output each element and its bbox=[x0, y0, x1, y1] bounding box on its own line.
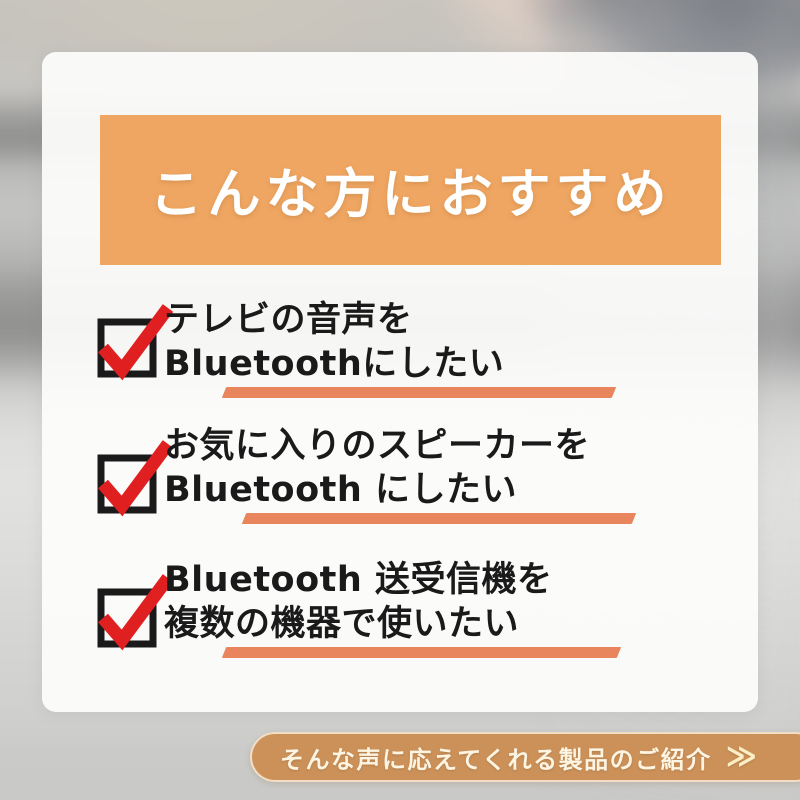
checked-box-icon bbox=[96, 308, 158, 384]
list-item-line-2: Bluetoothにしたい bbox=[164, 344, 504, 384]
promo-slide: こんな方におすすめ テレビの音声を Bluetoothにしたい bbox=[0, 0, 800, 800]
underline-stroke bbox=[222, 387, 616, 398]
cta-label: そんな声に応えてくれる製品のご紹介 bbox=[280, 740, 712, 775]
header-banner: こんな方におすすめ bbox=[100, 115, 721, 265]
list-item-line-1: Bluetooth 送受信機を bbox=[164, 560, 552, 600]
underline-stroke bbox=[222, 647, 621, 658]
list-item: お気に入りのスピーカーを Bluetooth にしたい bbox=[96, 422, 736, 520]
checklist: テレビの音声を Bluetoothにしたい お気に入りのスピーカーを Bluet… bbox=[96, 296, 736, 654]
double-chevron-right-icon: ≫ bbox=[726, 742, 757, 772]
list-item: Bluetooth 送受信機を 複数の機器で使いたい bbox=[96, 556, 736, 654]
list-item-line-2: Bluetooth にしたい bbox=[164, 470, 517, 510]
cta-banner[interactable]: そんな声に応えてくれる製品のご紹介 ≫ bbox=[250, 732, 800, 782]
list-item-line-1: テレビの音声を bbox=[164, 300, 413, 340]
list-item: テレビの音声を Bluetoothにしたい bbox=[96, 296, 736, 386]
checked-box-icon bbox=[96, 578, 158, 654]
underline-stroke bbox=[242, 513, 636, 524]
checked-box-icon bbox=[96, 444, 158, 520]
list-item-line-2: 複数の機器で使いたい bbox=[164, 604, 519, 644]
page-title: こんな方におすすめ bbox=[150, 152, 672, 228]
list-item-text: Bluetooth 送受信機を 複数の機器で使いたい bbox=[164, 556, 552, 646]
list-item-line-1: お気に入りのスピーカーを bbox=[164, 426, 590, 466]
list-item-text: テレビの音声を Bluetoothにしたい bbox=[164, 296, 504, 386]
list-item-text: お気に入りのスピーカーを Bluetooth にしたい bbox=[164, 422, 590, 512]
